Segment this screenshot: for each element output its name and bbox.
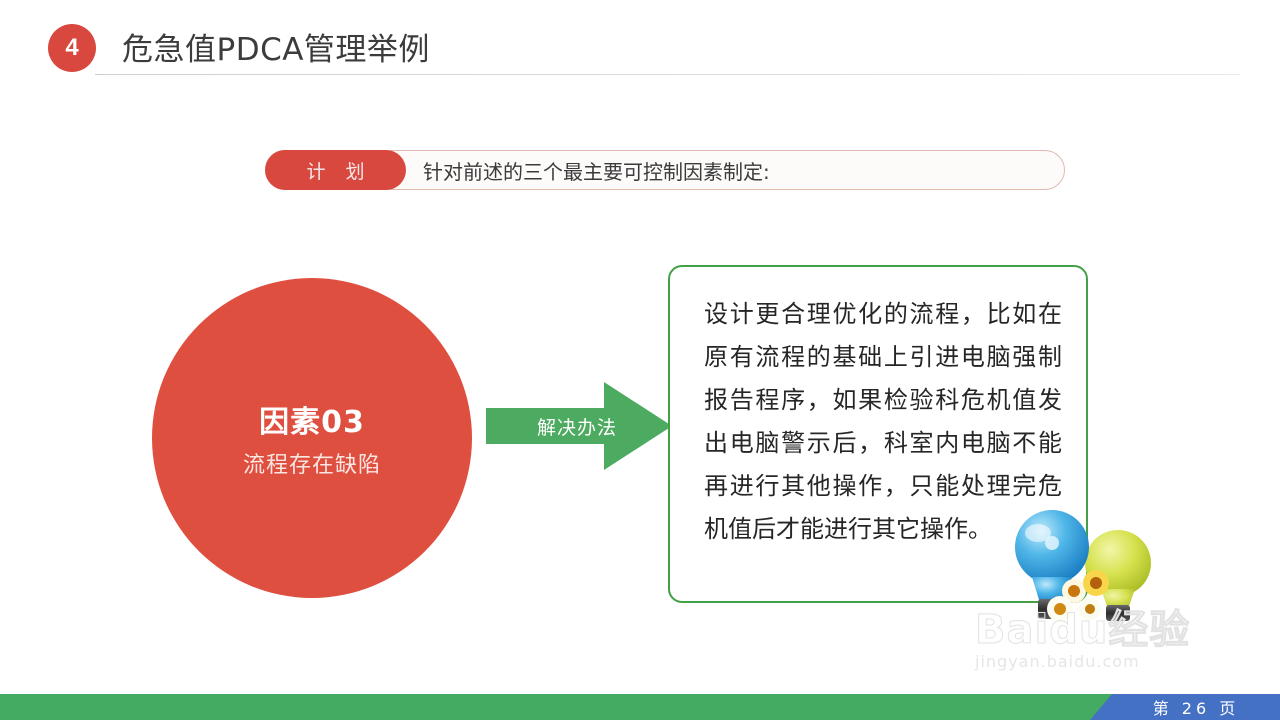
plan-banner: 计 划 针对前述的三个最主要可控制因素制定: bbox=[265, 150, 1065, 190]
slide-canvas: 4 危急值PDCA管理举例 计 划 针对前述的三个最主要可控制因素制定: 因素0… bbox=[0, 0, 1280, 720]
slide-footer: 第 26 页 bbox=[0, 694, 1280, 720]
section-number-label: 4 bbox=[65, 36, 78, 60]
watermark-sub: jingyan.baidu.com bbox=[975, 652, 1235, 671]
footer-green-bar bbox=[0, 694, 1130, 720]
lightbulbs-decoration bbox=[1000, 505, 1175, 630]
factor-title: 因素03 bbox=[259, 397, 365, 441]
factor-circle: 因素03 流程存在缺陷 bbox=[152, 278, 472, 598]
section-number-badge: 4 bbox=[48, 24, 96, 72]
page-number-label: 第 26 页 bbox=[1131, 695, 1240, 719]
factor-subtitle: 流程存在缺陷 bbox=[243, 447, 381, 479]
solution-arrow: 解决办法 bbox=[486, 378, 672, 474]
page-title: 危急值PDCA管理举例 bbox=[122, 24, 430, 69]
slide-header: 4 危急值PDCA管理举例 bbox=[0, 0, 1280, 96]
plan-description: 针对前述的三个最主要可控制因素制定: bbox=[423, 150, 770, 190]
footer-blue-bar: 第 26 页 bbox=[1090, 694, 1280, 720]
plan-pill-label: 计 划 bbox=[299, 157, 371, 184]
plan-pill-badge: 计 划 bbox=[265, 150, 406, 190]
header-divider bbox=[95, 74, 1240, 75]
arrow-right-icon bbox=[486, 378, 672, 474]
